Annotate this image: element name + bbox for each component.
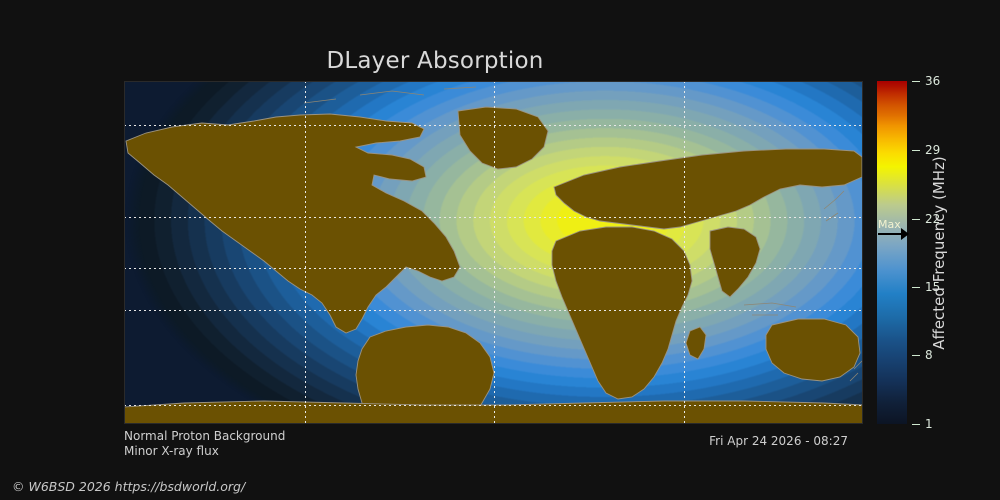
status-proton-background: Normal Proton Background — [124, 429, 285, 443]
colorbar-tick-mark — [912, 150, 920, 151]
status-xray-flux: Minor X-ray flux — [124, 444, 219, 458]
page-title: DLayer Absorption — [0, 48, 870, 74]
landmass-australia — [766, 319, 860, 381]
dlayer-absorption-page: DLayer Absorption — [0, 0, 1000, 500]
graticule-parallel-1 — [124, 125, 863, 126]
graticule-meridian-3 — [684, 81, 685, 424]
landmass-madagascar — [686, 327, 706, 359]
graticule-parallel-4 — [124, 310, 863, 311]
colorbar-tick-mark — [912, 355, 920, 356]
graticule-parallel-3 — [124, 268, 863, 269]
graticule-meridian-1 — [305, 81, 306, 424]
world-map[interactable] — [124, 81, 863, 424]
graticule-parallel-2 — [124, 217, 863, 218]
colorbar-tick-mark — [912, 219, 920, 220]
colorbar-tick-mark — [912, 287, 920, 288]
landmass-north-america — [126, 114, 460, 333]
graticule-meridian-2 — [494, 81, 495, 424]
colorbar[interactable] — [877, 81, 907, 424]
arrow-head — [901, 228, 909, 240]
graticule-parallel-5 — [124, 405, 863, 406]
timestamp: Fri Apr 24 2026 - 08:27 — [709, 434, 848, 448]
landmass-india — [710, 227, 760, 297]
colorbar-axis-label: Affected Frequency (MHz) — [930, 156, 948, 350]
colorbar-tick-mark — [912, 424, 920, 425]
copyright-notice: © W6BSD 2026 https://bsdworld.org/ — [12, 479, 245, 494]
colorbar-max-arrow-icon — [877, 225, 917, 241]
colorbar-tick-mark — [912, 81, 920, 82]
colorbar-axis-label-wrap: Affected Frequency (MHz) — [929, 81, 949, 424]
landmass-greenland — [458, 107, 548, 169]
coastline-indonesia — [744, 303, 796, 315]
landmass-africa — [552, 227, 692, 399]
coastline-arctic-islands — [304, 87, 476, 103]
